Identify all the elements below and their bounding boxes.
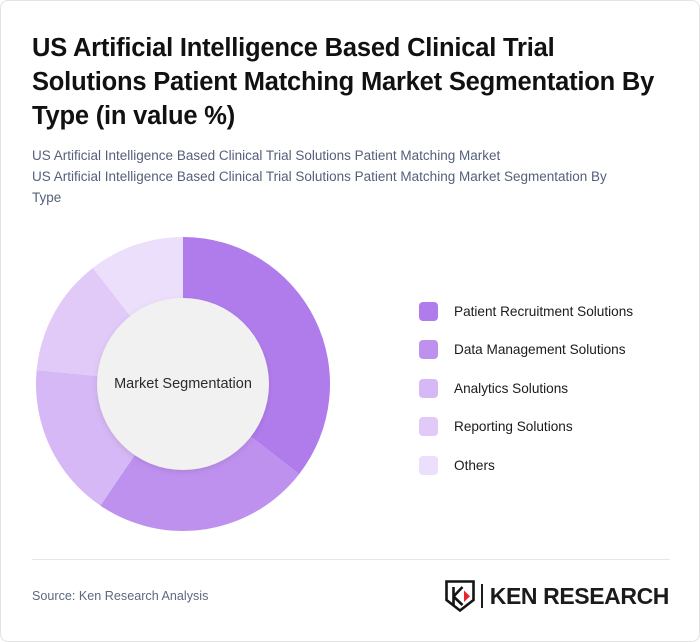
chart-legend: Patient Recruitment SolutionsData Manage… (419, 292, 669, 485)
legend-swatch-icon (419, 340, 438, 359)
donut-chart-svg (33, 234, 333, 534)
donut-hole (97, 298, 269, 470)
footer-divider (32, 559, 670, 560)
legend-item[interactable]: Analytics Solutions (419, 369, 669, 408)
legend-swatch-icon (419, 456, 438, 475)
source-note: Source: Ken Research Analysis (32, 589, 208, 603)
legend-item[interactable]: Others (419, 446, 669, 485)
legend-swatch-icon (419, 379, 438, 398)
legend-label: Data Management Solutions (454, 342, 626, 357)
subtitle-line-2: US Artificial Intelligence Based Clinica… (32, 167, 632, 209)
legend-item[interactable]: Data Management Solutions (419, 331, 669, 370)
legend-swatch-icon (419, 302, 438, 321)
brand-logo: KEN RESEARCH (445, 579, 669, 613)
ken-shield-logo-icon (445, 580, 475, 612)
subtitle-line-1: US Artificial Intelligence Based Clinica… (32, 146, 632, 167)
legend-label: Others (454, 458, 495, 473)
brand-separator (481, 584, 483, 608)
legend-label: Analytics Solutions (454, 381, 568, 396)
page-title: US Artificial Intelligence Based Clinica… (32, 31, 662, 133)
brand-name: KEN RESEARCH (490, 583, 669, 610)
legend-label: Reporting Solutions (454, 419, 573, 434)
chart-subtitle: US Artificial Intelligence Based Clinica… (32, 146, 632, 209)
legend-item[interactable]: Patient Recruitment Solutions (419, 292, 669, 331)
legend-item[interactable]: Reporting Solutions (419, 408, 669, 447)
legend-swatch-icon (419, 417, 438, 436)
donut-chart: Market Segmentation (33, 234, 333, 534)
legend-label: Patient Recruitment Solutions (454, 304, 633, 319)
chart-card: US Artificial Intelligence Based Clinica… (0, 0, 700, 642)
